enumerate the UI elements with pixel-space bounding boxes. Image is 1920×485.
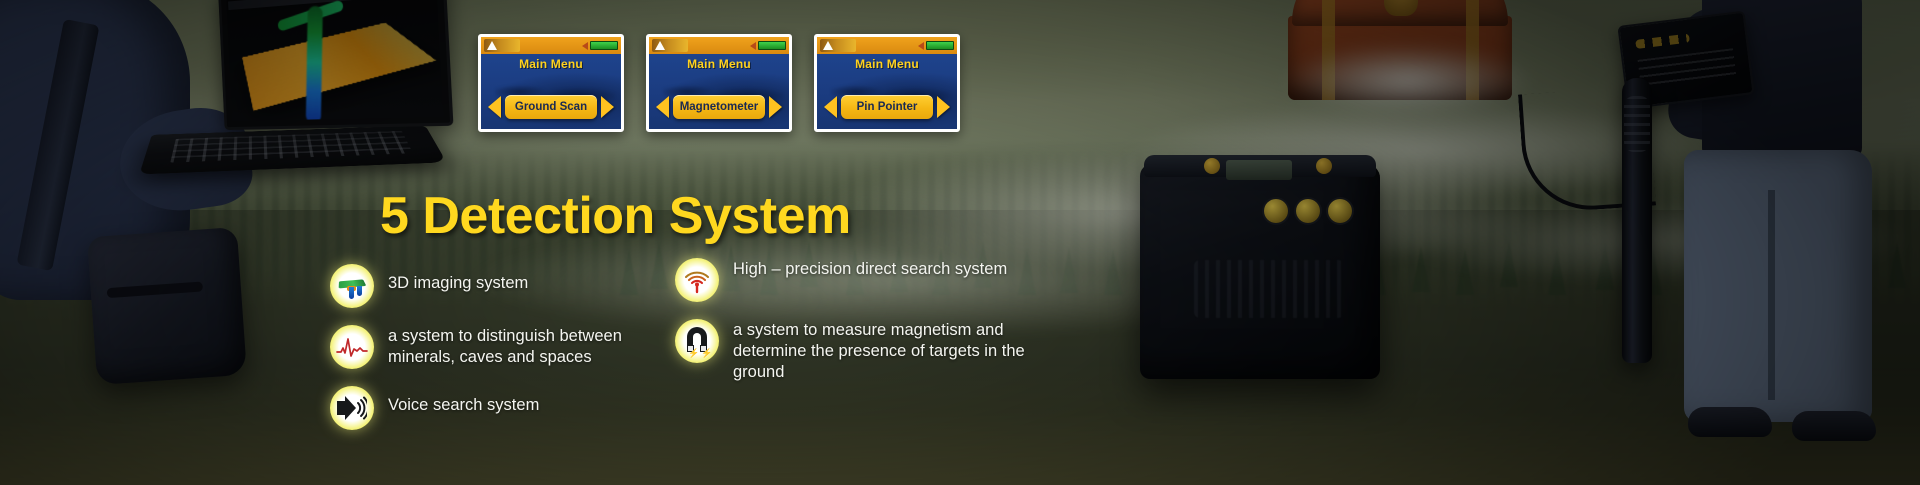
speaker-icon [750, 42, 756, 50]
detector-knob [1316, 158, 1332, 174]
pulse-wave-icon [330, 325, 374, 369]
menu-selector[interactable]: Magnetometer [656, 95, 782, 119]
menu-selector[interactable]: Ground Scan [488, 95, 614, 119]
menu-title: Main Menu [817, 57, 957, 71]
laptop-keys [170, 131, 413, 163]
laptop-3d-ground-scan [148, 0, 448, 180]
menu-card-ground-scan[interactable]: Main Menu Ground Scan [478, 34, 624, 132]
speaker-icon [918, 42, 924, 50]
detector-branding-emboss [1194, 260, 1344, 318]
brand-logo-icon [652, 39, 688, 52]
speaker-glyph [337, 396, 367, 420]
feature-label: a system to measure magnetism and determ… [733, 319, 1055, 383]
list-item: a system to distinguish between minerals… [330, 325, 670, 369]
page-title: 5 Detection System [380, 186, 851, 246]
laptop-screen [226, 0, 443, 121]
chevron-right-icon[interactable] [937, 96, 950, 118]
feature-label: Voice search system [388, 386, 539, 416]
laptop-keyboard-base [139, 125, 446, 174]
status-indicators [918, 41, 954, 50]
detector-port [1296, 199, 1320, 223]
menu-selector[interactable]: Pin Pointer [824, 95, 950, 119]
operator-shoe [1792, 411, 1876, 441]
menu-title: Main Menu [481, 57, 621, 71]
menu-selection-button[interactable]: Pin Pointer [841, 95, 933, 119]
pulse-wave-glyph [336, 335, 368, 359]
device-menu-previews: Main Menu Ground Scan Main Menu M [478, 34, 960, 132]
chevron-left-icon[interactable] [488, 96, 501, 118]
menu-card-pin-pointer[interactable]: Main Menu Pin Pointer [814, 34, 960, 132]
feature-label: High – precision direct search system [733, 258, 1007, 280]
status-indicators [582, 41, 618, 50]
equipment-bag [87, 227, 247, 385]
speaker-icon [582, 42, 588, 50]
menu-card-magnetometer[interactable]: Main Menu Magnetometer [646, 34, 792, 132]
menu-status-bar [649, 37, 789, 54]
operator-with-tablet [1500, 0, 1920, 485]
detector-port [1264, 199, 1288, 223]
menu-selection-button[interactable]: Magnetometer [673, 95, 765, 119]
chevron-left-icon[interactable] [656, 96, 669, 118]
status-indicators [750, 41, 786, 50]
detector-control-box [1140, 164, 1380, 379]
magnet-icon: ⚡⚡ [675, 319, 719, 363]
pin-pointer-probe [1622, 78, 1652, 363]
treasure-chest [1288, 0, 1512, 110]
feature-column-left: 3D imaging system a system to distinguis… [330, 264, 670, 447]
detector-display [1226, 160, 1292, 180]
feature-column-right: High – precision direct search system ⚡⚡… [675, 258, 1055, 398]
signal-antenna-icon [675, 258, 719, 302]
detector-port [1328, 199, 1352, 223]
brand-logo-icon [484, 39, 520, 52]
chevron-right-icon[interactable] [769, 96, 782, 118]
magnet-glyph: ⚡⚡ [683, 327, 711, 355]
menu-title: Main Menu [649, 57, 789, 71]
menu-status-bar [817, 37, 957, 54]
detector-ports [1264, 198, 1360, 224]
battery-icon [926, 41, 954, 50]
chevron-left-icon[interactable] [824, 96, 837, 118]
list-item: ⚡⚡ a system to measure magnetism and det… [675, 319, 1055, 383]
menu-status-bar [481, 37, 621, 54]
feature-label: 3D imaging system [388, 264, 528, 294]
scan-anomaly-column [306, 6, 323, 121]
list-item: 3D imaging system [330, 264, 670, 308]
chevron-right-icon[interactable] [601, 96, 614, 118]
feature-label: a system to distinguish between minerals… [388, 325, 670, 368]
menu-selection-button[interactable]: Ground Scan [505, 95, 597, 119]
scan-terrain-surface [242, 23, 436, 111]
operator-legs [1684, 150, 1872, 422]
list-item: Voice search system [330, 386, 670, 430]
operator-shoe [1688, 407, 1772, 437]
detector-knob [1204, 158, 1220, 174]
battery-icon [758, 41, 786, 50]
brand-logo-icon [820, 39, 856, 52]
speaker-icon [330, 386, 374, 430]
promo-banner: Main Menu Ground Scan Main Menu M [0, 0, 1920, 485]
signal-antenna-glyph [682, 265, 712, 295]
laptop-lid [218, 0, 453, 130]
list-item: High – precision direct search system [675, 258, 1055, 302]
3d-terrain-icon [330, 264, 374, 308]
battery-icon [590, 41, 618, 50]
